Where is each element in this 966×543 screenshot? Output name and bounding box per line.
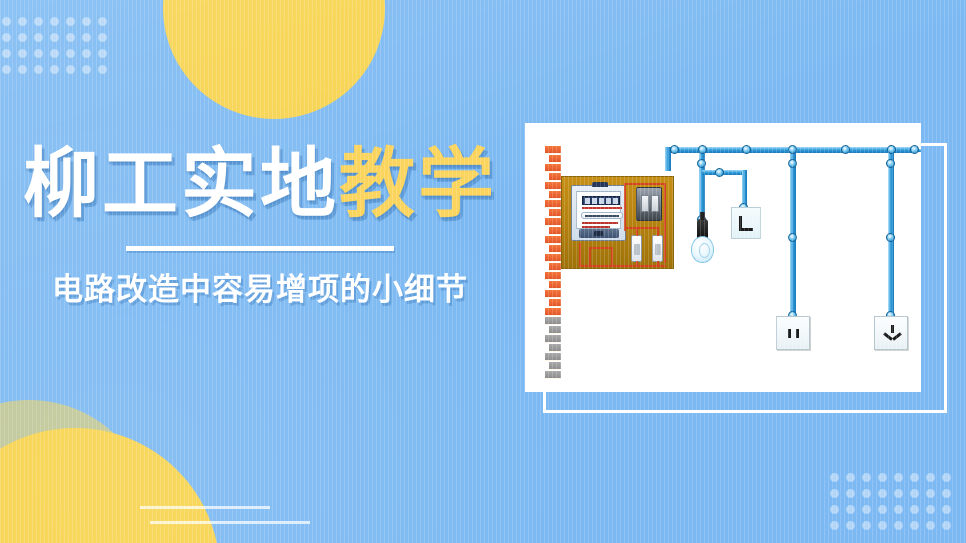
junction-node (788, 233, 797, 242)
outlet-pin-live (883, 332, 893, 341)
junction-node (670, 145, 679, 154)
headline-block: 柳工实地教学 电路改造中容易增项的小细节 (0, 146, 520, 309)
outlet-pin (796, 329, 799, 338)
meter-cap (592, 182, 608, 187)
light-bulb (691, 236, 714, 263)
junction-node (742, 145, 751, 154)
meter-text-line-1 (582, 222, 618, 224)
illustration-panel (525, 123, 921, 392)
junction-node (886, 159, 895, 168)
junction-node (698, 145, 707, 154)
fuse-right (652, 235, 663, 262)
wall-switch (731, 207, 761, 239)
title-divider (126, 246, 394, 251)
junction-node (788, 159, 797, 168)
wiring-diagram (525, 123, 921, 392)
electric-meter (571, 185, 626, 241)
conduit-switch-horizontal (702, 170, 747, 175)
junction-node (841, 145, 850, 154)
meter-board (561, 176, 674, 269)
outlet-pin (788, 329, 791, 338)
meter-digit-display (582, 196, 620, 205)
meter-text-line-2 (582, 226, 610, 228)
two-pin-outlet (776, 316, 810, 350)
title-accent-text: 教学 (339, 142, 497, 227)
fuse-left (631, 235, 642, 262)
page-title: 柳工实地教学 (0, 146, 520, 224)
junction-node (788, 145, 797, 154)
meter-face (576, 191, 621, 229)
circuit-breaker (636, 187, 662, 221)
slide-canvas: 柳工实地教学 电路改造中容易增项的小细节 (0, 0, 966, 543)
brick-wall (545, 146, 561, 376)
page-subtitle: 电路改造中容易增项的小细节 (0, 264, 520, 309)
meter-terminal-block (579, 229, 619, 238)
line-lower (150, 521, 310, 524)
breaker-lever-left (641, 195, 649, 212)
circle-top-yellow (163, 0, 385, 119)
junction-node (910, 145, 919, 154)
junction-node (886, 233, 895, 242)
junction-node (887, 145, 896, 154)
outlet-pin-neutral (892, 332, 902, 341)
outlet-pin-ground (891, 325, 894, 333)
line-upper (140, 506, 270, 509)
circle-bottom-left-solid (0, 428, 220, 543)
switch-icon (739, 216, 753, 231)
dot-grid-bottom-right (830, 473, 958, 537)
breaker-lever-right (651, 195, 659, 212)
meter-dial (581, 212, 623, 219)
meter-red-label (582, 207, 622, 209)
title-main-text: 柳工实地 (23, 142, 339, 227)
dot-grid-top-left (2, 17, 114, 81)
junction-node (697, 159, 706, 168)
junction-node (715, 168, 724, 177)
three-pin-outlet (874, 316, 908, 350)
